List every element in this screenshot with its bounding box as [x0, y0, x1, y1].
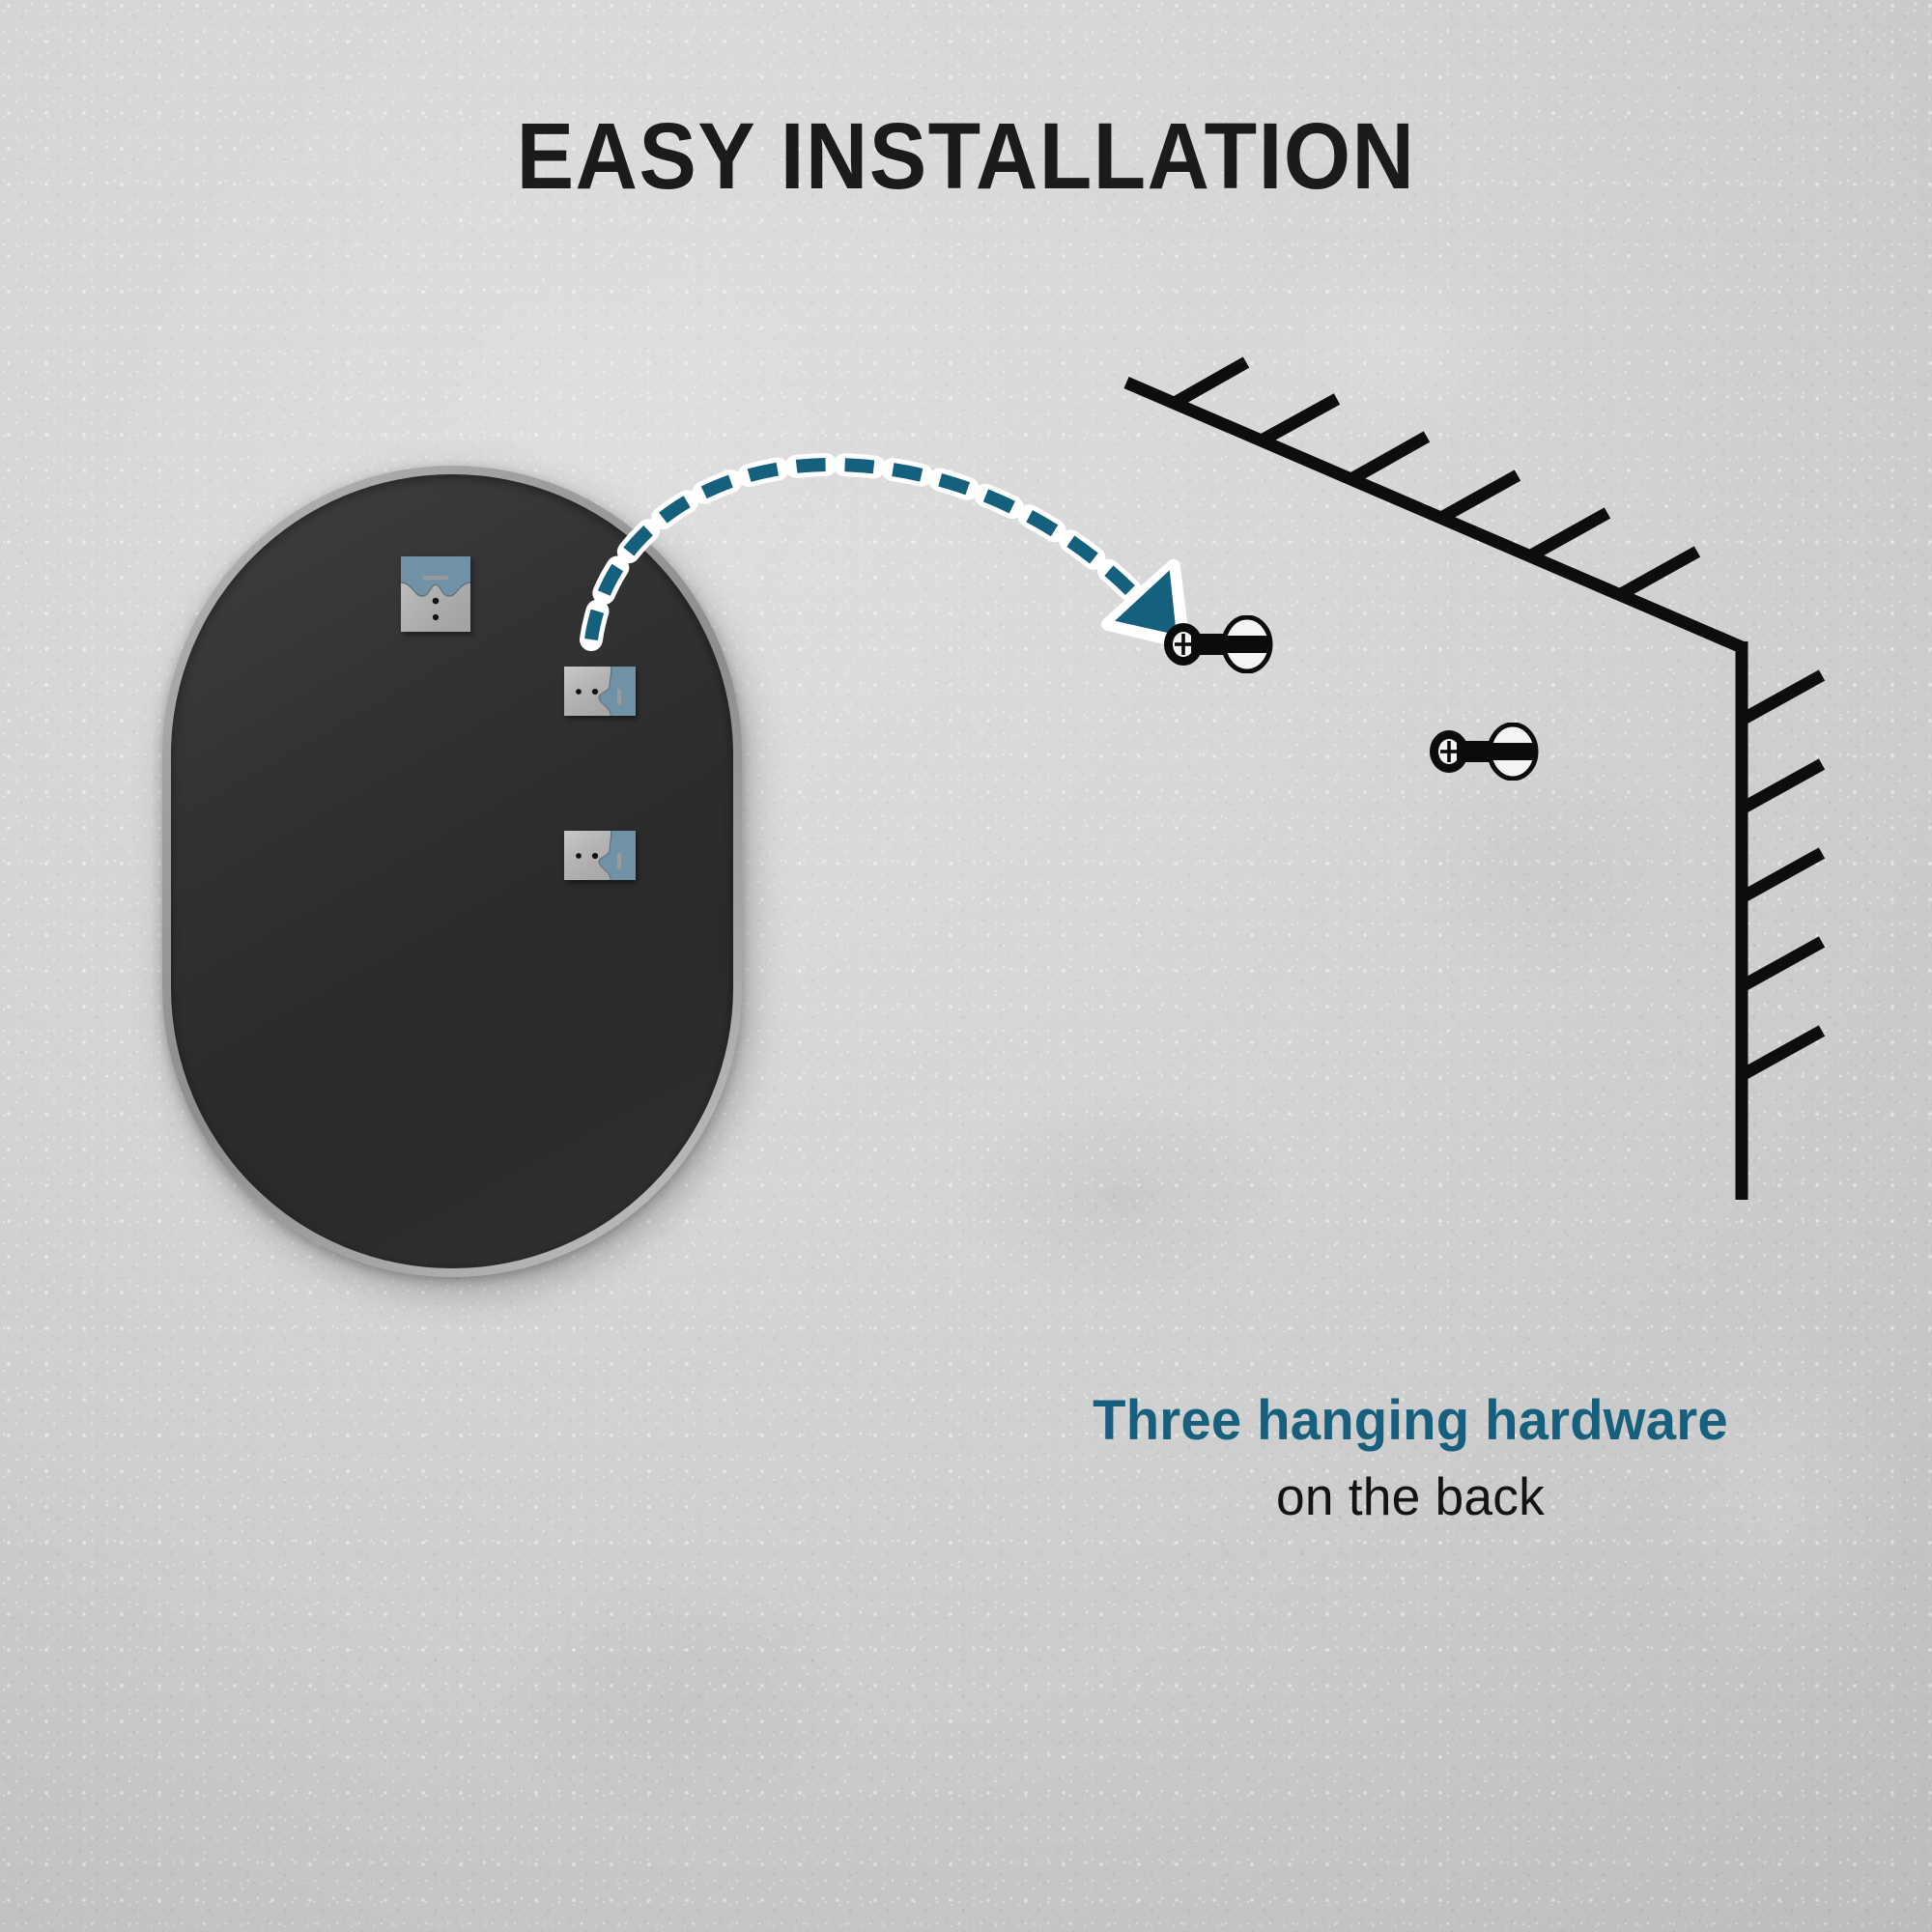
page-title: EASY INSTALLATION [77, 102, 1855, 211]
caption-headline: Three hanging hardware [1008, 1391, 1813, 1450]
wall-screw-1 [1162, 615, 1278, 673]
bracket-middle [564, 667, 636, 716]
wall-screw-2 [1428, 723, 1544, 781]
caption-subline: on the back [1008, 1465, 1813, 1527]
caption-block: Three hanging hardware on the back [995, 1391, 1826, 1527]
bracket-top [401, 556, 470, 632]
wall-mirror [162, 466, 742, 1277]
bracket-bottom [564, 831, 636, 880]
infographic-canvas: EASY INSTALLATION [0, 0, 1932, 1932]
